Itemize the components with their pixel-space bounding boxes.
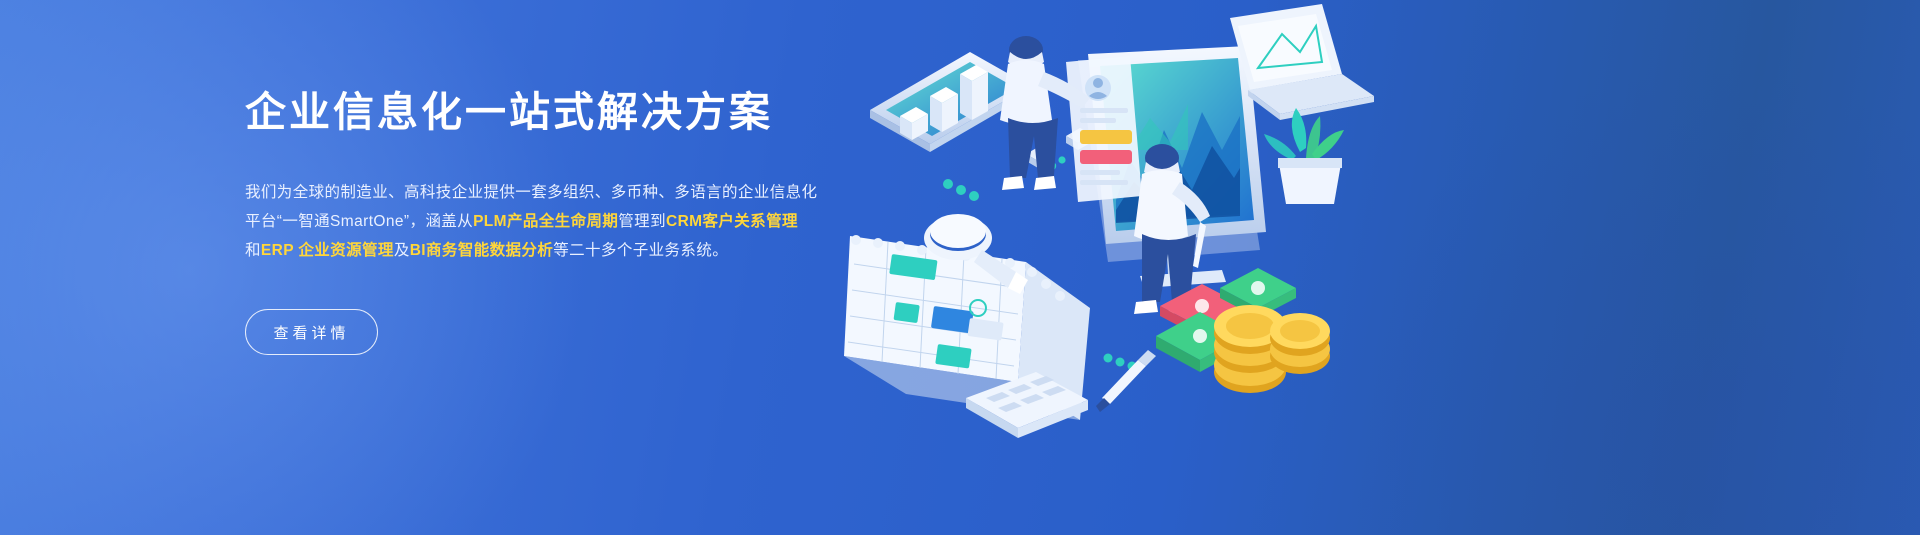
highlight-erp: ERP 企业资源管理 — [261, 242, 394, 259]
profile-card-panel — [1066, 56, 1142, 202]
description-line-3: 和ERP 企业资源管理及BI商务智能数据分析等二十多个子业务系统。 — [245, 236, 885, 265]
highlight-plm: PLM产品全生命周期 — [473, 213, 618, 230]
description-text-1: 我们为全球的制造业、高科技企业提供一套多组织、多币种、多语言的企业信息化 — [245, 184, 817, 201]
description-text-3b: 及 — [394, 242, 410, 259]
description-text-2a: 平台“一智通SmartOne”，涵盖从 — [245, 213, 473, 230]
page-title: 企业信息化一站式解决方案 — [245, 88, 885, 136]
view-details-button[interactable]: 查看详情 — [245, 309, 378, 355]
hero-illustration — [830, 0, 1430, 535]
highlight-bi: BI商务智能数据分析 — [410, 242, 554, 259]
description-text-3a: 和 — [245, 242, 261, 259]
description-text-3c: 等二十多个子业务系统。 — [553, 242, 728, 259]
description-line-2: 平台“一智通SmartOne”，涵盖从PLM产品全生命周期管理到CRM客户关系管… — [245, 207, 885, 236]
hero-copy-block: 企业信息化一站式解决方案 我们为全球的制造业、高科技企业提供一套多组织、多币种、… — [245, 88, 885, 355]
description-line-1: 我们为全球的制造业、高科技企业提供一套多组织、多币种、多语言的企业信息化 — [245, 178, 885, 207]
hero-description: 我们为全球的制造业、高科技企业提供一套多组织、多币种、多语言的企业信息化 平台“… — [245, 178, 885, 265]
gold-coins — [1214, 305, 1330, 393]
highlight-crm: CRM客户关系管理 — [666, 213, 798, 230]
hero-banner: 企业信息化一站式解决方案 我们为全球的制造业、高科技企业提供一套多组织、多币种、… — [0, 0, 1920, 535]
description-text-2b: 管理到 — [618, 213, 666, 230]
potted-plant — [1264, 108, 1344, 204]
